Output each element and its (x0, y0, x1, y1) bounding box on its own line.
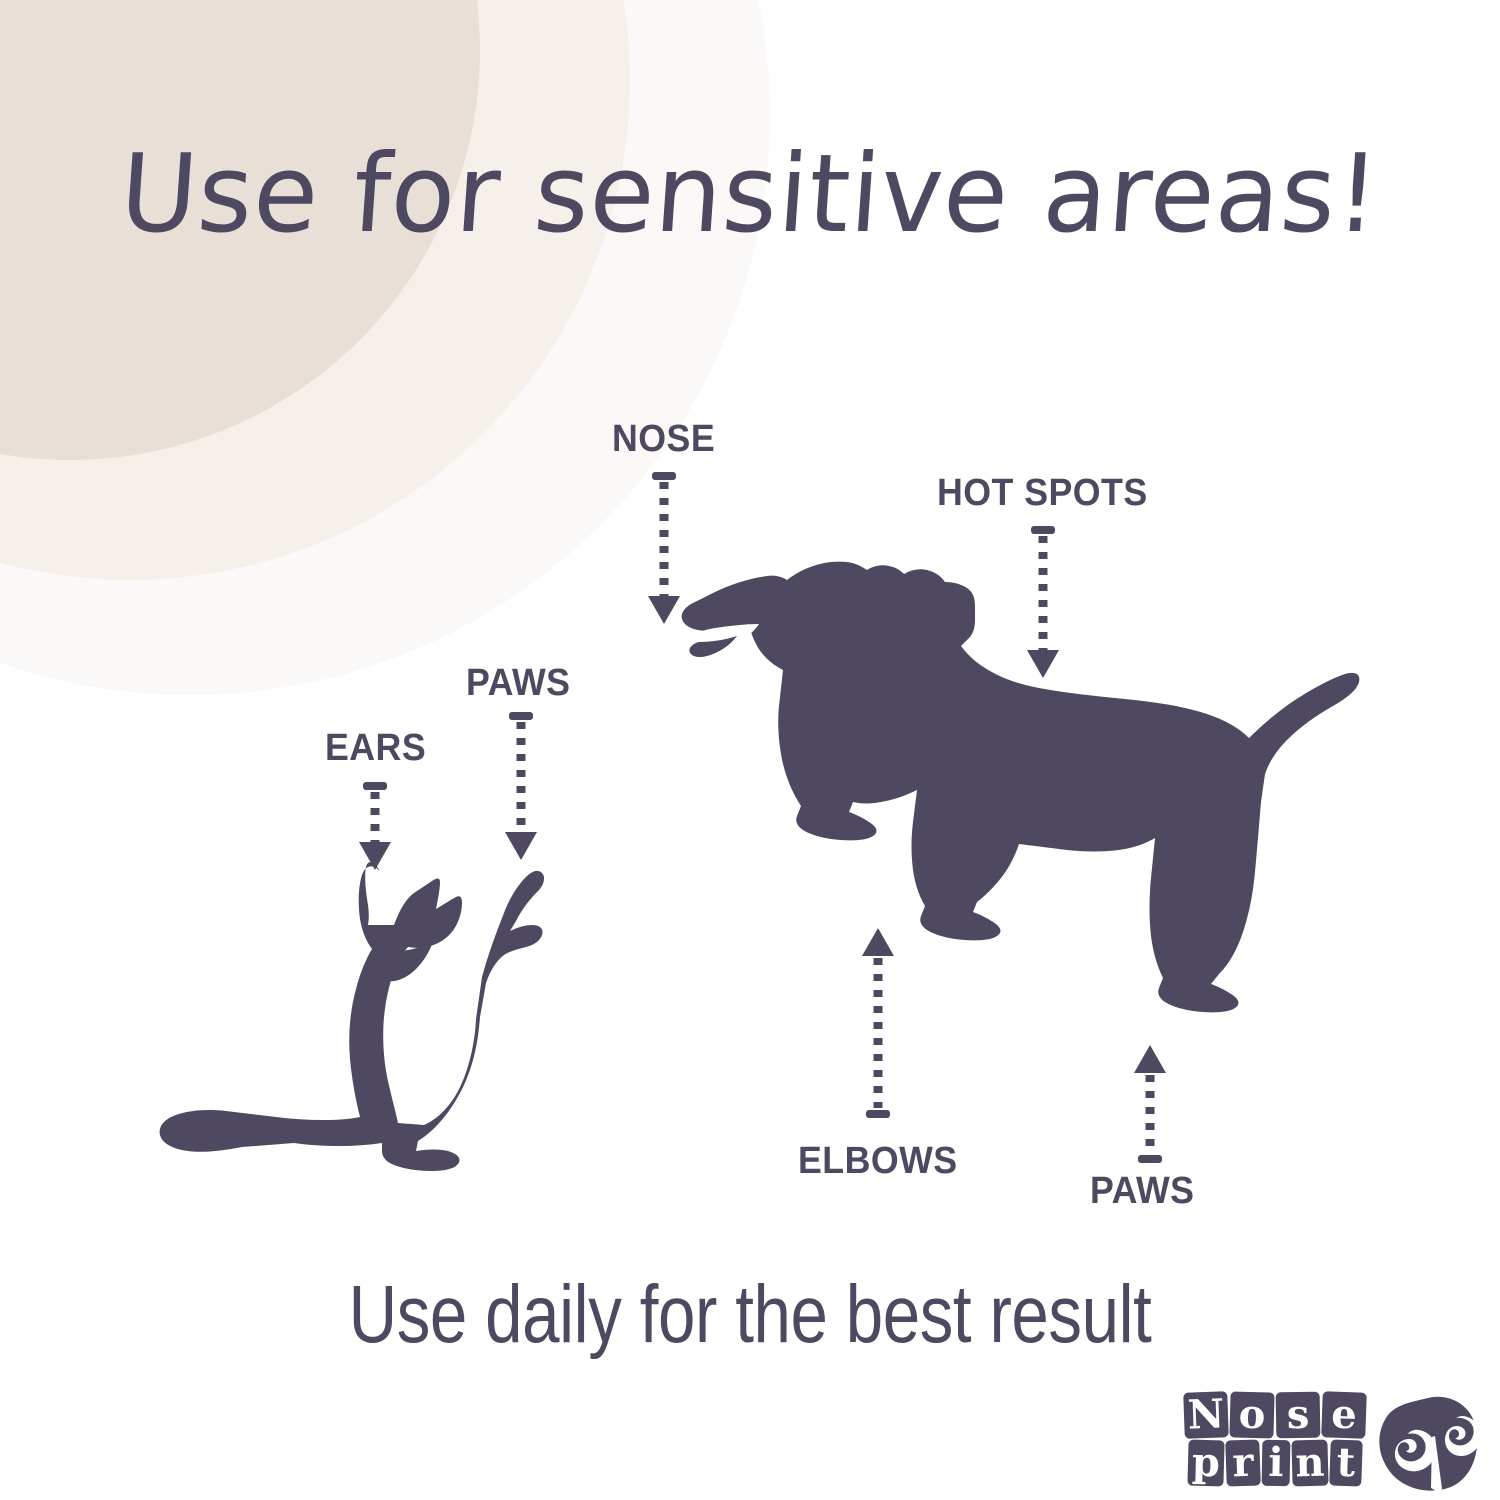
callout-arrow-elbows (854, 928, 902, 1120)
logo-tile-n2: n (1291, 1440, 1328, 1487)
logo-tile-s: s (1276, 1392, 1321, 1439)
footer-tagline: Use daily for the best result (135, 1268, 1365, 1362)
brand-logo[interactable]: N o s e p r i n t (1182, 1392, 1482, 1496)
dog-silhouette (655, 550, 1365, 1050)
nose-icon (1378, 1396, 1478, 1497)
logo-tile-n: N (1183, 1391, 1229, 1439)
callout-arrow-ears (351, 782, 399, 874)
page-title: Use for sensitive areas! (19, 138, 1482, 251)
callout-label-ears: EARS (325, 727, 426, 770)
logo-tile-r: r (1225, 1439, 1261, 1486)
callout-label-paws-dog: PAWS (1090, 1170, 1194, 1213)
callout-label-hot-spots: HOT SPOTS (937, 472, 1148, 515)
callout-arrow-paws-dog (1126, 1045, 1174, 1165)
brand-wordmark-line-1: N o s e (1184, 1392, 1368, 1438)
callout-label-nose: NOSE (612, 418, 715, 461)
logo-tile-o: o (1229, 1391, 1274, 1438)
callout-arrow-hot-spots (1019, 526, 1067, 681)
logo-tile-e: e (1321, 1391, 1367, 1439)
callout-label-paws-cat: PAWS (466, 662, 570, 705)
poster-canvas: Use for sensitive areas! NOSE HOT SPOTS (0, 0, 1500, 1500)
callout-arrow-paws-cat (497, 712, 545, 864)
logo-tile-p: p (1187, 1440, 1224, 1487)
background-ring-middle (0, 0, 630, 580)
brand-wordmark-line-2: p r i n t (1188, 1440, 1364, 1486)
cat-silhouette (148, 855, 568, 1175)
callout-arrow-nose (640, 472, 688, 627)
callout-label-elbows: ELBOWS (798, 1140, 958, 1183)
logo-tile-t: t (1329, 1439, 1363, 1486)
brand-wordmark: N o s e p r i n t (1182, 1392, 1372, 1496)
logo-tile-i: i (1262, 1440, 1291, 1486)
